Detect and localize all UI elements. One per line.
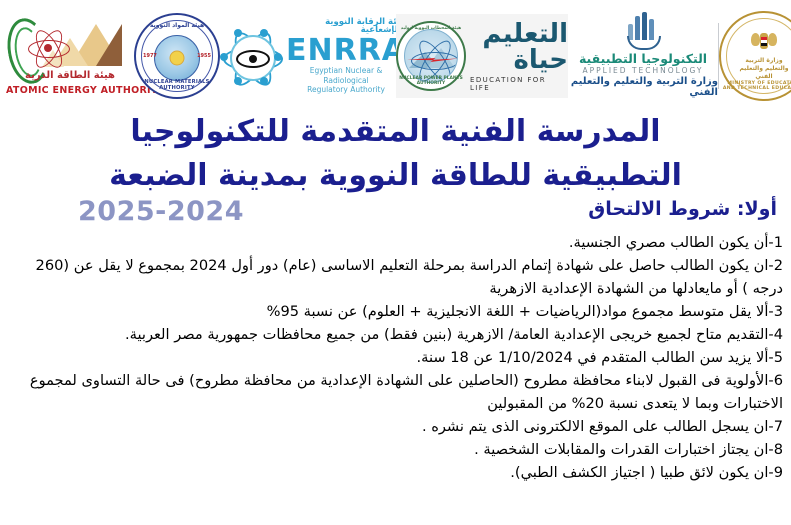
aea-english-label: ATOMIC ENERGY AUTHORITY — [6, 85, 134, 96]
hand-palm — [627, 36, 661, 50]
condition-item-3: 3-ألا يقل متوسط مجموع مواد(الرياضيات + ا… — [8, 300, 783, 323]
applied-technology-logo: التكنولوجيا التطبيقية APPLIED TECHNOLOGY… — [568, 11, 718, 101]
applied-technology-ministry-label: وزارة التربية والتعليم والتعليم الفني — [568, 76, 718, 98]
enrra-english-line2: Regulatory Authority — [286, 85, 406, 94]
enrra-eye-ring — [230, 35, 276, 81]
hand-bar-chart-icon — [626, 14, 660, 50]
globe-icon — [154, 35, 200, 81]
enrra-electron-2 — [274, 53, 282, 61]
eagle-of-saladin-icon — [751, 29, 777, 55]
education-for-life-text: التعليم حياة EDUCATION FOR LIFE — [470, 21, 568, 92]
logo-applied-technology: التكنولوجيا التطبيقية APPLIED TECHNOLOGY… — [568, 11, 718, 101]
enrra-electron-4 — [260, 29, 268, 37]
pyramid-large-shadow-icon — [96, 24, 122, 66]
education-for-life-panel: هيئة المحطات النووية لتوليد الكهرباء NUC… — [396, 14, 568, 98]
seal-english-ring-label: MINISTRY OF EDUCATION AND TECHNICAL EDUC… — [721, 81, 791, 91]
conditions-heading: أولا: شروط الالتحاق — [588, 198, 777, 220]
enrra-english-line1: Egyptian Nuclear & Radiological — [286, 66, 406, 85]
logo-enrra: هيئة الرقابة النووية والإشعاعية ENRRA Eg… — [220, 16, 396, 96]
nppa-inner-disc — [404, 29, 458, 83]
nuclear-materials-authority-icon: هيئة المواد النووية 1977 1955 NUCLEAR MA… — [134, 13, 220, 99]
seal-arabic-label: وزارة التربية والتعليم والتعليم الفني — [733, 57, 791, 81]
subheader-row: 2025-2024 أولا: شروط الالتحاق — [0, 196, 791, 230]
enrra-logo: هيئة الرقابة النووية والإشعاعية ENRRA Eg… — [220, 16, 396, 96]
condition-item-9: 9-ان يكون لائق طبيا ( اجتياز الكشف الطبي… — [8, 461, 783, 484]
atom-nucleus — [44, 44, 52, 52]
nppa-english-ring-label: NUCLEAR POWER PLANTS AUTHORITY — [398, 76, 464, 86]
nuclear-power-plants-authority-icon: هيئة المحطات النووية لتوليد الكهرباء NUC… — [396, 21, 466, 91]
egypt-flag-shield-icon — [761, 37, 767, 46]
condition-item-2: 2-ان يكون الطالب حاصل على شهادة إتمام ال… — [8, 254, 783, 300]
applied-technology-english-title: APPLIED TECHNOLOGY — [582, 66, 703, 75]
conditions-list: 1-أن يكون الطالب مصري الجنسية. 2-ان يكون… — [8, 231, 783, 485]
condition-item-1: 1-أن يكون الطالب مصري الجنسية. — [8, 231, 783, 254]
eagle-wing-right — [768, 33, 777, 46]
enrra-electron-5 — [234, 77, 242, 85]
enrra-electron-6 — [260, 77, 268, 85]
education-for-life-arabic: التعليم حياة — [470, 21, 568, 73]
atomic-energy-authority-icon: هيئة الطاقة الذرية ATOMIC ENERGY AUTHORI… — [6, 10, 134, 102]
logo-education-for-life: هيئة المحطات النووية لتوليد الكهرباء NUC… — [396, 14, 568, 98]
enrra-eye-of-horus-atom-icon — [220, 25, 282, 87]
enrra-electron-1 — [220, 53, 228, 61]
academic-year-badge: 2025-2024 — [78, 196, 244, 227]
enrra-acronym: ENRRA — [286, 35, 406, 67]
atom-icon — [28, 28, 68, 68]
logo-header-strip: هيئة الطاقة الذرية ATOMIC ENERGY AUTHORI… — [0, 0, 791, 108]
condition-item-7: 7-ان يسجل الطالب على الموقع الالكترونى ا… — [8, 415, 783, 438]
title-line-1: المدرسة الفنية المتقدمة للتكنولوجيا — [0, 110, 791, 154]
logo-nuclear-materials-authority: هيئة المواد النووية 1977 1955 NUCLEAR MA… — [134, 13, 220, 99]
title-line-2: التطبيقية للطاقة النووية بمدينة الضبعة — [0, 154, 791, 198]
aea-arabic-label: هيئة الطاقة الذرية — [6, 70, 134, 81]
ministry-of-education-seal-icon: وزارة التربية والتعليم والتعليم الفني MI… — [719, 11, 791, 101]
announcement-poster: هيئة الطاقة الذرية ATOMIC ENERGY AUTHORI… — [0, 0, 791, 525]
condition-item-5: 5-ألا يزيد سن الطالب المتقدم في 1/10/202… — [8, 346, 783, 369]
eye-of-horus-icon — [236, 50, 270, 68]
enrra-text-block: هيئة الرقابة النووية والإشعاعية ENRRA Eg… — [286, 18, 406, 95]
condition-item-4: 4-التقديم متاح لجميع خريجى الإعدادية الع… — [8, 323, 783, 346]
nma-year-right: 1955 — [197, 53, 211, 59]
condition-item-6: 6-الأولوية فى القبول لابناء محافظة مطروح… — [8, 369, 783, 415]
enrra-electron-3 — [234, 29, 242, 37]
logo-atomic-energy-authority: هيئة الطاقة الذرية ATOMIC ENERGY AUTHORI… — [6, 10, 134, 102]
nma-year-left: 1977 — [143, 53, 157, 59]
logo-ministry-seal: وزارة التربية والتعليم والتعليم الفني MI… — [719, 11, 791, 101]
page-title: المدرسة الفنية المتقدمة للتكنولوجيا التط… — [0, 110, 791, 197]
nma-arabic-ring-label: هيئة المواد النووية — [136, 22, 218, 29]
condition-item-8: 8-ان يجتاز اختبارات القدرات والمقابلات ا… — [8, 438, 783, 461]
applied-technology-arabic-title: التكنولوجيا التطبيقية — [579, 52, 707, 66]
nma-english-ring-label: NUCLEAR MATERIALS AUTHORITY — [136, 79, 218, 91]
education-for-life-english: EDUCATION FOR LIFE — [470, 76, 568, 92]
eagle-wing-left — [751, 33, 760, 46]
